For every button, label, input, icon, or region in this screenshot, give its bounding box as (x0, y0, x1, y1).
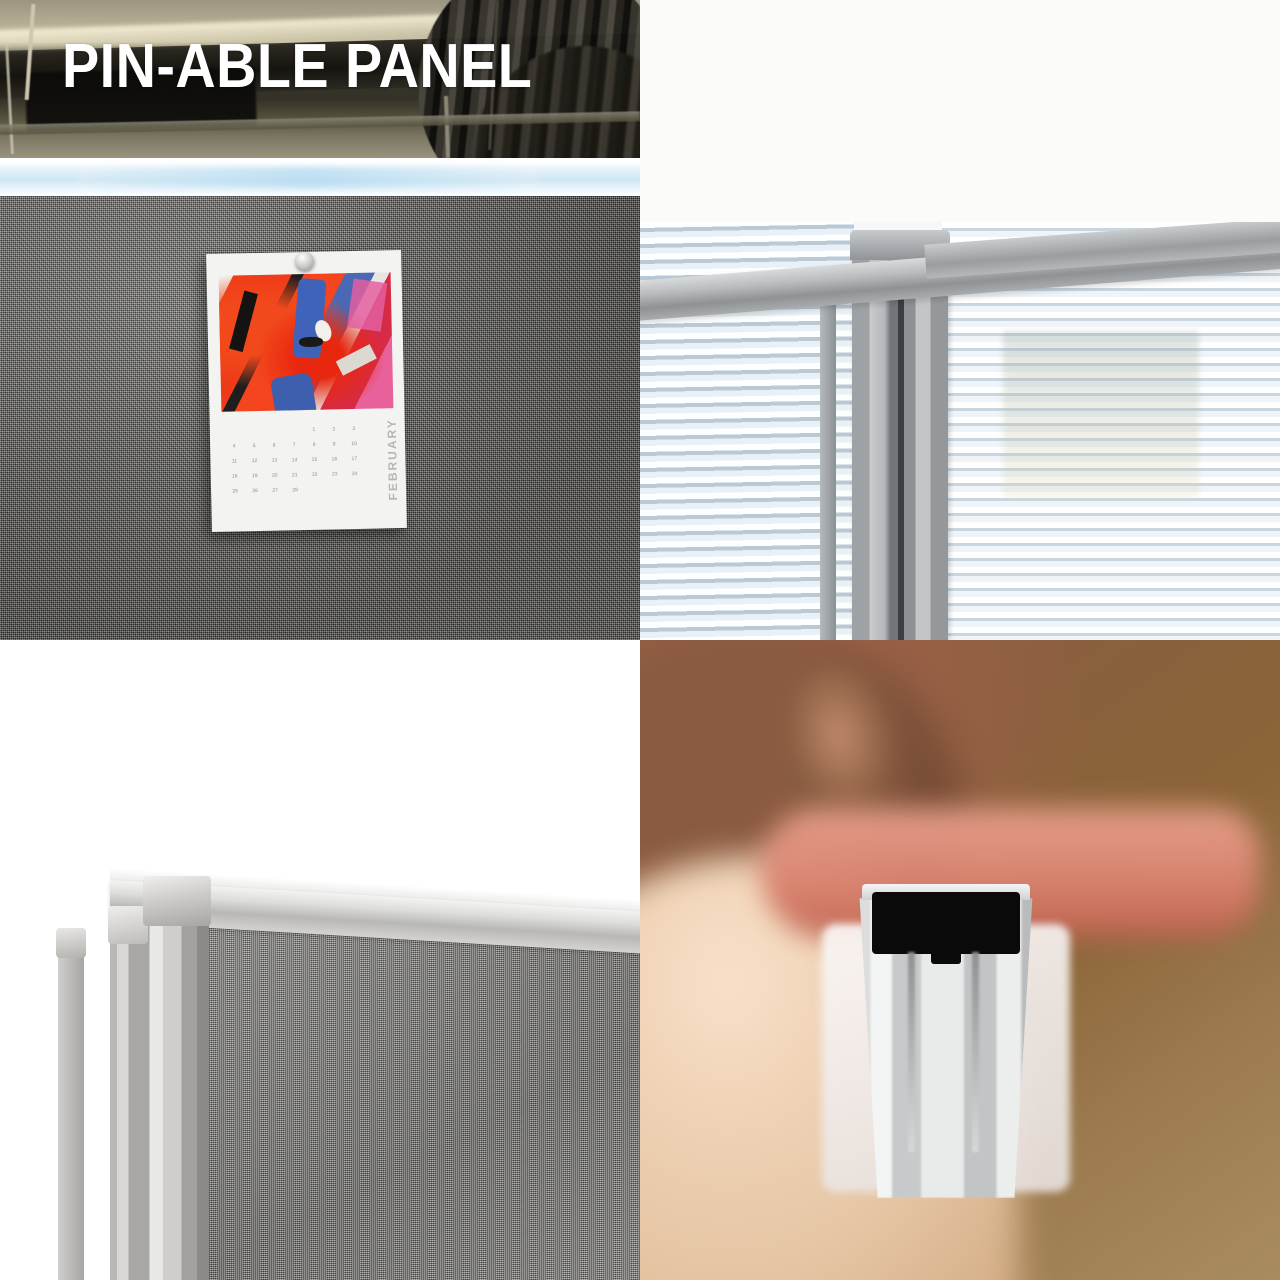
frame-post-rear (58, 950, 84, 1280)
fabric-insert (146, 910, 640, 1280)
partition-post-photo (640, 222, 1280, 640)
frame-mullion (820, 280, 836, 640)
calendar-artwork (219, 272, 394, 412)
window-light-band (0, 158, 640, 198)
panel-customizable-configuration: CUSTOMIZABLE CONFIGURATION (640, 0, 1280, 640)
frame-corner-middle (108, 906, 148, 944)
frame-post-front (143, 912, 209, 1280)
calendar-day-grid: 1 2 3 4 5 6 7 8 9 10 11 12 13 14 15 16 1… (224, 421, 366, 520)
panel-light-aircraft-aluminum-frame: LIGHT AIRCRAFT ALUMINUM FRAME (0, 640, 640, 1280)
aluminum-post (852, 252, 948, 640)
extrusion-rib (972, 952, 979, 1152)
extrusion-channel-slot (872, 892, 1020, 954)
push-pin-icon (296, 252, 314, 270)
calendar-month-label: FEBRUARY (385, 418, 401, 501)
frame-corner-rear (56, 928, 86, 958)
headline-pin-able-panel: PIN-ABLE PANEL (62, 35, 532, 98)
feature-collage: 1 2 3 4 5 6 7 8 9 10 11 12 13 14 15 16 1… (0, 0, 1280, 1280)
pinned-calendar: 1 2 3 4 5 6 7 8 9 10 11 12 13 14 15 16 1… (206, 250, 407, 532)
frame-post-middle (110, 936, 146, 1280)
frame-corner-front (143, 876, 211, 926)
ceiling-rod (5, 44, 14, 154)
extrusion-rib (908, 952, 915, 1152)
panel-toolless-assembly: TOOLLESS ASSEMBLY (640, 640, 1280, 1280)
panel-pin-able-panel: 1 2 3 4 5 6 7 8 9 10 11 12 13 14 15 16 1… (0, 0, 640, 640)
